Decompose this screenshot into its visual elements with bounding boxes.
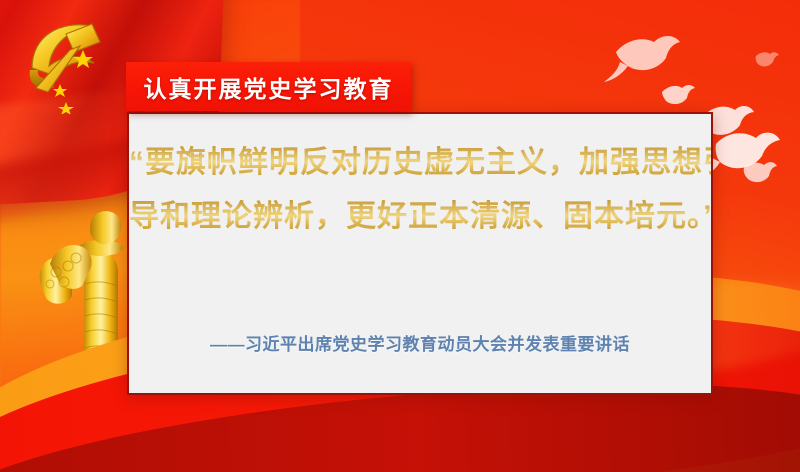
quote-line-1: “要旗帜鲜明反对历史虚无主义，加强思想引 [129,136,711,190]
quote-line-2: 导和理论辨析，更好正本清源、固本培元。” [129,190,711,244]
quote-block: “要旗帜鲜明反对历史虚无主义，加强思想引 导和理论辨析，更好正本清源、固本培元。… [129,136,711,244]
title-banner-label: 认真开展党史学习教育 [144,70,394,104]
poster-canvas: “要旗帜鲜明反对历史虚无主义，加强思想引 导和理论辨析，更好正本清源、固本培元。… [0,0,800,472]
content-card: “要旗帜鲜明反对历史虚无主义，加强思想引 导和理论辨析，更好正本清源、固本培元。… [127,112,713,395]
hammer-and-sickle-icon [8,10,126,114]
attribution-block: ——习近平出席党史学习教育动员大会并发表重要讲话 [129,330,711,355]
title-banner: 认真开展党史学习教育 [126,62,411,111]
attribution-text: ——习近平出席党史学习教育动员大会并发表重要讲话 [210,330,630,355]
content-card-inner: “要旗帜鲜明反对历史虚无主义，加强思想引 导和理论辨析，更好正本清源、固本培元。… [129,114,711,393]
